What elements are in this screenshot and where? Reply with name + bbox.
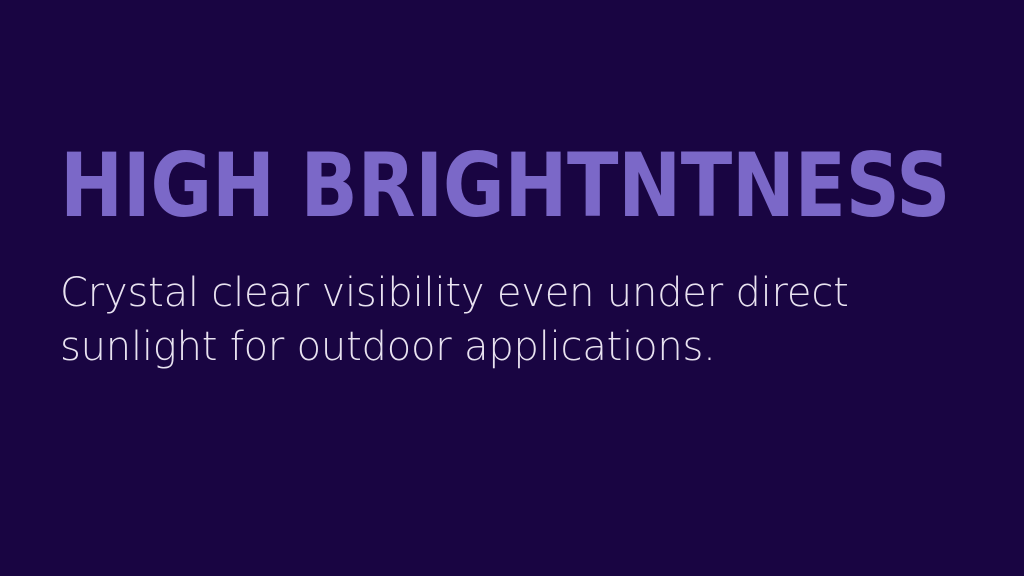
page-title: HIGH BRIGHTNTNESS — [60, 138, 840, 234]
subtitle-line-2: sunlight for outdoor applications. — [60, 320, 860, 374]
slide-subtitle: Crystal clear visibility even under dire… — [60, 266, 860, 374]
slide-content-block: HIGH BRIGHTNTNESS Crystal clear visibili… — [60, 138, 970, 374]
subtitle-line-1: Crystal clear visibility even under dire… — [60, 266, 860, 320]
slide-canvas: HIGH BRIGHTNTNESS Crystal clear visibili… — [0, 0, 1024, 576]
